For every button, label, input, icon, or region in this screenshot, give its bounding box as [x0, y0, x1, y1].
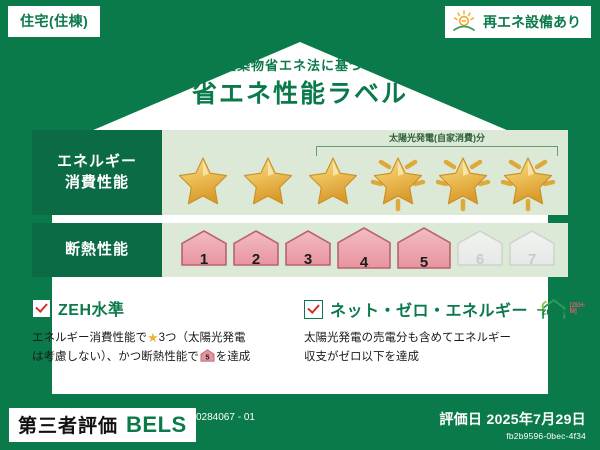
- insulation-level-3: 3: [284, 229, 332, 272]
- star-sparkle: [369, 152, 427, 212]
- svg-text:ZEH-M: ZEH-M: [542, 307, 566, 316]
- insulation-level-number: 7: [508, 251, 556, 268]
- energy-label-line2: 消費性能: [65, 173, 129, 193]
- insulation-level-1: 1: [180, 229, 228, 272]
- insulation-level-scale: 1 2 3: [162, 223, 568, 277]
- netzero-header: ネット・ゼロ・エネルギー ZEH-M [ZEH-M]: [304, 296, 562, 322]
- star-rating: [162, 146, 568, 212]
- page-title: 省エネ性能ラベル: [0, 74, 600, 110]
- residence-type-tag: 住宅(住棟): [8, 6, 100, 37]
- inline-star-icon: ★: [147, 330, 159, 345]
- evaluation-uid: fb2b9596-0bec-4f34: [439, 431, 586, 441]
- evaluation-info: 評価日 2025年7月29日 fb2b9596-0bec-4f34: [439, 409, 586, 441]
- insulation-level-5: 5: [396, 226, 452, 275]
- zeh-title: ZEH水準: [58, 296, 125, 320]
- inline-house-badge: 5: [200, 349, 215, 362]
- netzero-checkbox-checked-icon: [304, 300, 323, 319]
- netzero-desc-line2: 収支がゼロ以下を達成: [304, 351, 419, 363]
- insulation-performance-row: 断熱性能 1: [32, 223, 568, 277]
- insulation-level-number: 3: [284, 251, 332, 268]
- star-filled: [304, 152, 362, 212]
- evaluation-date-label: 評価日: [439, 411, 482, 427]
- insulation-level-7: 7: [508, 229, 556, 272]
- criteria-columns: ZEH水準 エネルギー消費性能で★3つ（太陽光発電 は考慮しない）、かつ断熱性能…: [32, 296, 572, 367]
- evaluation-date-value: 2025年7月29日: [486, 411, 586, 427]
- energy-consumption-row: エネルギー 消費性能 太陽光発電(自家消費)分: [32, 130, 568, 215]
- netzero-criterion: ネット・ゼロ・エネルギー ZEH-M [ZEH-M] 太陽光発電の売電分も含めて…: [304, 296, 562, 367]
- certificate-number: 0284067 - 01: [196, 412, 276, 425]
- zeh-m-house-icon: ZEH-M: [536, 296, 568, 322]
- insulation-level-2: 2: [232, 229, 280, 272]
- title-subtitle: 建築物省エネ法に基づく: [0, 55, 600, 74]
- star-filled: [174, 152, 232, 212]
- netzero-desc-line1: 太陽光発電の売電分も含めてエネルギー: [304, 332, 511, 344]
- insulation-scale-panel: 1 2 3: [162, 223, 568, 277]
- renewable-badge-label: 再エネ設備あり: [483, 12, 581, 32]
- zeh-desc-part1: エネルギー消費性能で: [32, 332, 147, 344]
- insulation-label-text: 断熱性能: [65, 240, 129, 260]
- evaluation-date: 評価日 2025年7月29日: [439, 409, 586, 429]
- sun-icon: [451, 10, 477, 34]
- insulation-performance-label: 断熱性能: [32, 223, 162, 277]
- third-party-evaluation-label: 第三者評価: [18, 411, 118, 438]
- star-sparkle: [499, 152, 557, 212]
- label-footer: 第三者評価 BELS 0284067 - 01 評価日 2025年7月29日 f…: [0, 400, 600, 450]
- zeh-desc-part2: は考慮しない）、かつ断熱性能で: [32, 351, 199, 363]
- zeh-m-logo: ZEH-M [ZEH-M]: [536, 296, 589, 322]
- performance-rows: エネルギー 消費性能 太陽光発電(自家消費)分: [32, 130, 568, 285]
- energy-label-line1: エネルギー: [57, 152, 137, 172]
- zeh-desc-part3: を達成: [216, 351, 251, 363]
- zeh-criterion: ZEH水準 エネルギー消費性能で★3つ（太陽光発電 は考慮しない）、かつ断熱性能…: [32, 296, 290, 367]
- insulation-level-number: 4: [336, 254, 392, 271]
- insulation-level-number: 1: [180, 251, 228, 268]
- insulation-level-4: 4: [336, 226, 392, 275]
- renewable-equipment-badge: 再エネ設備あり: [445, 6, 591, 38]
- zeh-description: エネルギー消費性能で★3つ（太陽光発電 は考慮しない）、かつ断熱性能で5を達成: [32, 327, 290, 367]
- zeh-checkbox-checked-icon: [32, 299, 51, 318]
- star-filled: [239, 152, 297, 212]
- bels-certification-box: 第三者評価 BELS: [9, 408, 196, 442]
- bels-logo-text: BELS: [126, 412, 187, 438]
- zeh-desc-star-count: 3つ（太陽光発電: [159, 332, 246, 344]
- solar-annotation-caption: 太陽光発電(自家消費)分: [312, 131, 562, 144]
- energy-stars-panel: 太陽光発電(自家消費)分: [162, 130, 568, 215]
- insulation-level-number: 2: [232, 251, 280, 268]
- star-sparkle: [434, 152, 492, 212]
- netzero-description: 太陽光発電の売電分も含めてエネルギー 収支がゼロ以下を達成: [304, 329, 562, 367]
- insulation-level-6: 6: [456, 229, 504, 272]
- energy-consumption-label: エネルギー 消費性能: [32, 130, 162, 215]
- svg-text:5: 5: [205, 353, 209, 362]
- energy-performance-label: 住宅(住棟) 再エネ設備あり 建築物省エネ法に基づく 省エネ性能ラベル エネルギ…: [0, 0, 600, 450]
- netzero-title: ネット・ゼロ・エネルギー: [330, 297, 528, 321]
- insulation-level-number: 6: [456, 251, 504, 268]
- zeh-m-logo-subtext: [ZEH-M]: [570, 303, 589, 315]
- insulation-level-number: 5: [396, 254, 452, 271]
- zeh-header: ZEH水準: [32, 296, 290, 320]
